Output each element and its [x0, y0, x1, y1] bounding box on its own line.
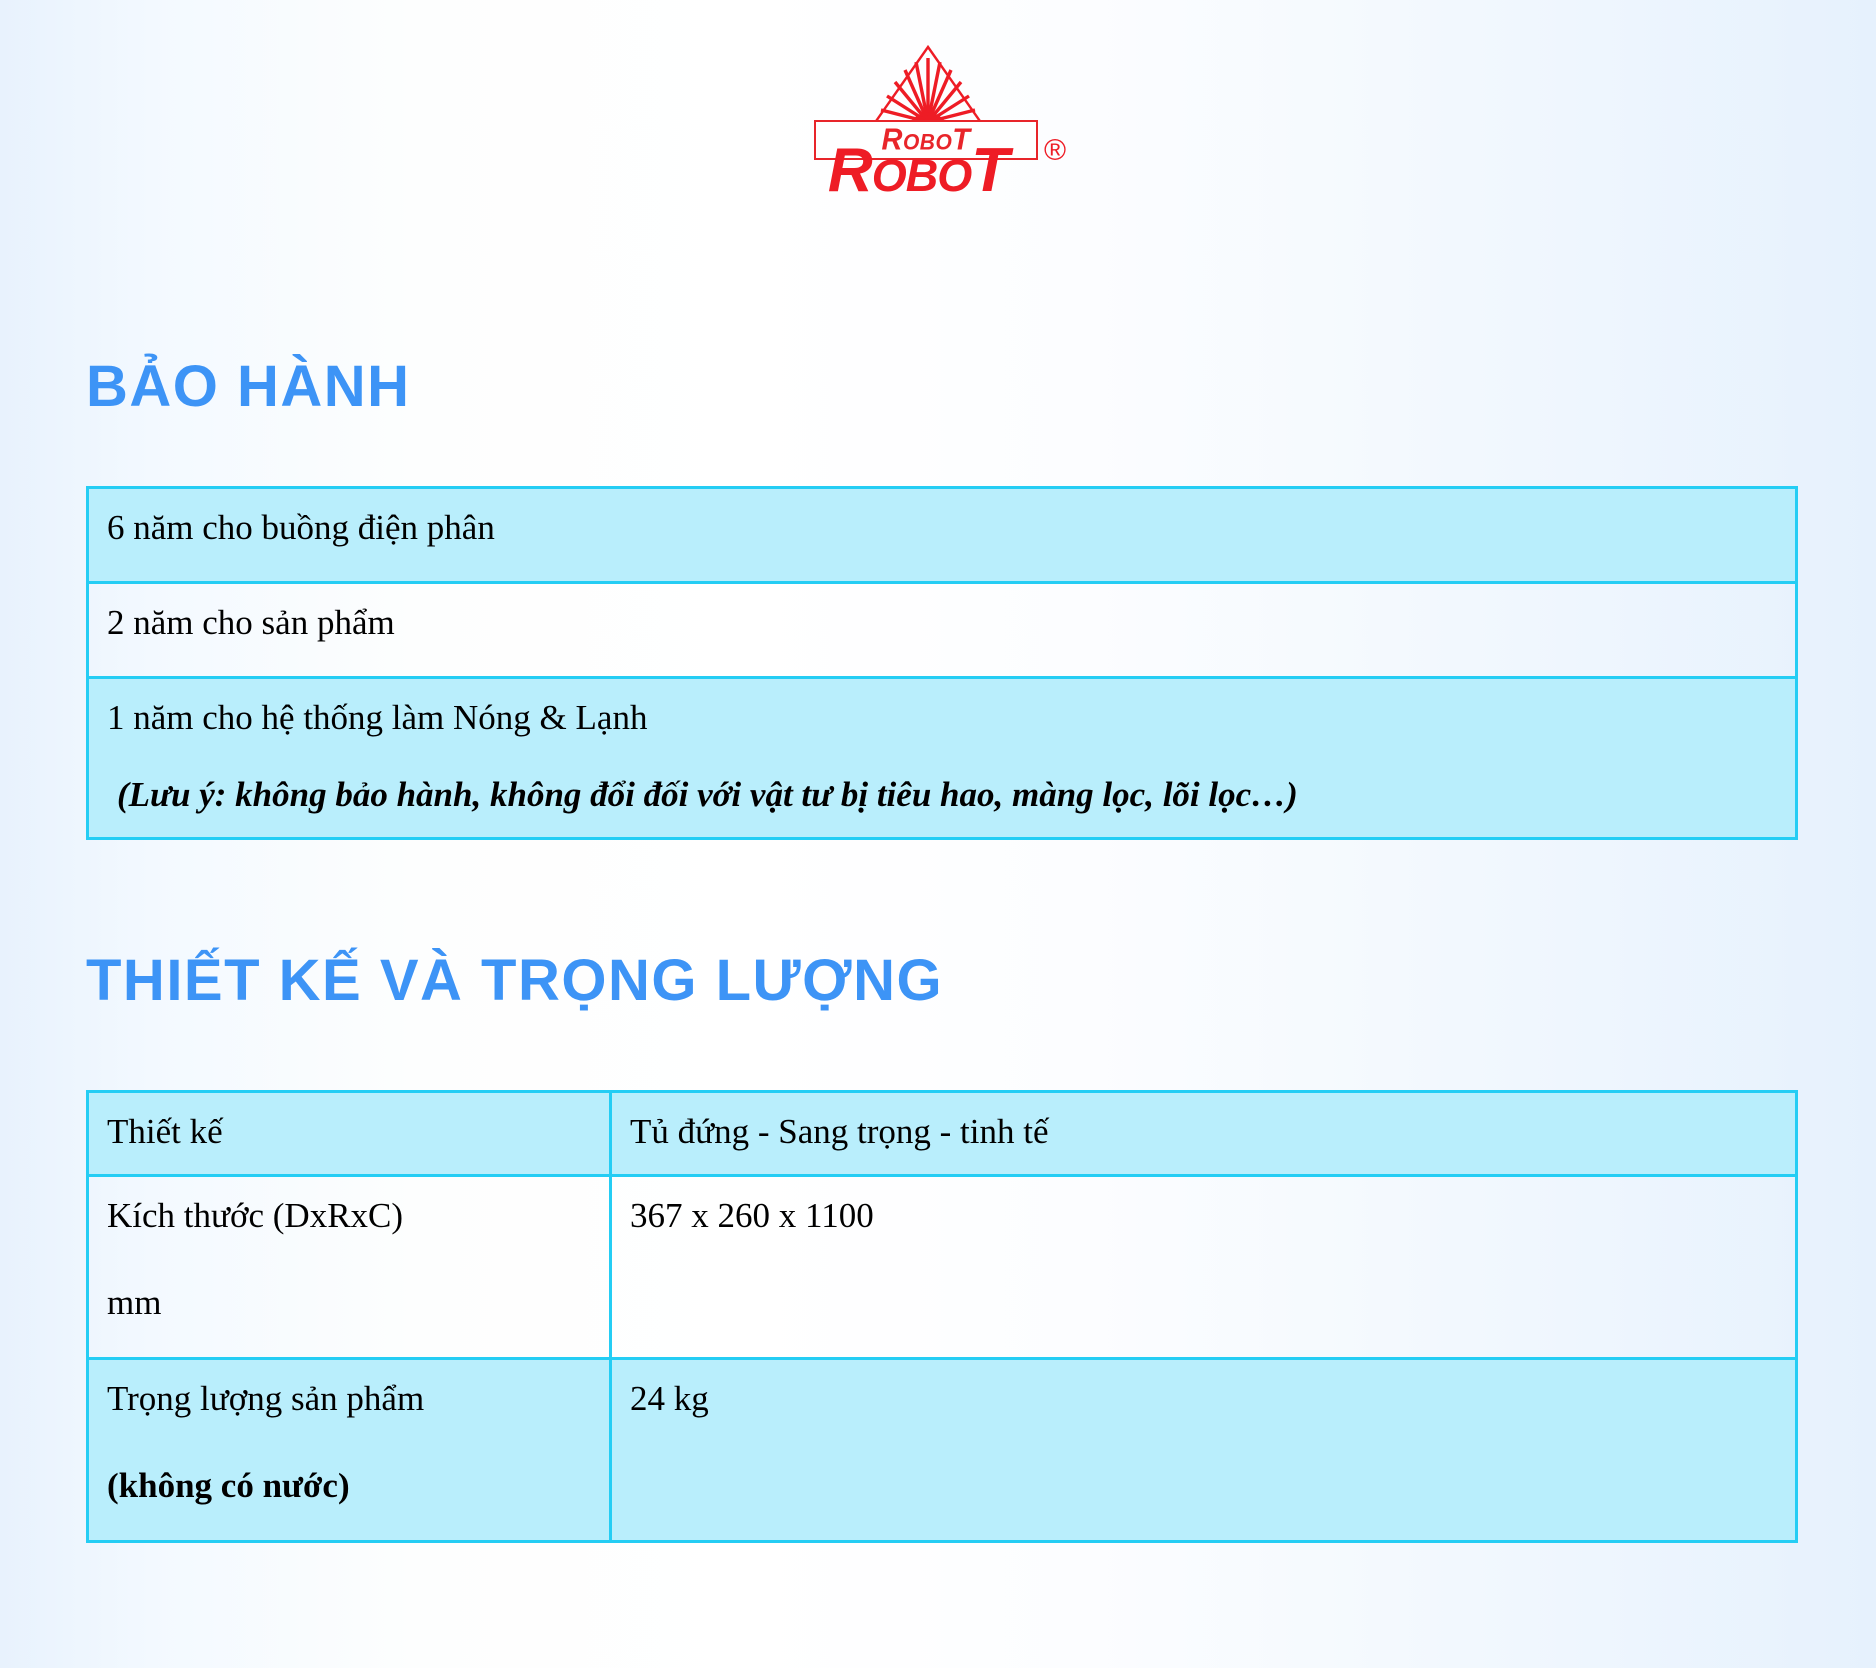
design-label-cell: Thiết kế	[88, 1092, 611, 1176]
warranty-section-title: BẢO HÀNH	[86, 358, 411, 416]
warranty-text: 2 năm cho sản phẩm	[107, 603, 395, 642]
table-row: 1 năm cho hệ thống làm Nóng & Lạnh (Lưu …	[88, 678, 1797, 839]
design-value: 367 x 260 x 1100	[630, 1196, 874, 1235]
warranty-cell: 2 năm cho sản phẩm	[88, 583, 1797, 678]
design-label-unit: mm	[107, 1278, 591, 1329]
warranty-text: 1 năm cho hệ thống làm Nóng & Lạnh	[107, 698, 647, 737]
design-label-cell: Trọng lượng sản phẩm (không có nước)	[88, 1358, 611, 1541]
design-value-cell: Tủ đứng - Sang trọng - tinh tế	[611, 1092, 1797, 1176]
warranty-table: 6 năm cho buồng điện phân 2 năm cho sản …	[86, 486, 1798, 840]
table-row: Thiết kế Tủ đứng - Sang trọng - tinh tế	[88, 1092, 1797, 1176]
product-spec-page: ROBOT ROBOT ® BẢO HÀNH 6 năm cho buồng đ…	[0, 0, 1876, 1668]
brand-logo: ROBOT ROBOT ®	[0, 44, 1876, 184]
design-section-title: THIẾT KẾ VÀ TRỌNG LƯỢNG	[86, 952, 943, 1010]
design-value: Tủ đứng - Sang trọng - tinh tế	[630, 1112, 1049, 1151]
table-row: 6 năm cho buồng điện phân	[88, 488, 1797, 583]
warranty-note: (Lưu ý: không bảo hành, không đổi đối vớ…	[117, 770, 1777, 821]
design-label: Trọng lượng sản phẩm	[107, 1379, 424, 1418]
table-row: Kích thước (DxRxC) mm 367 x 260 x 1100	[88, 1175, 1797, 1358]
table-row: Trọng lượng sản phẩm (không có nước) 24 …	[88, 1358, 1797, 1541]
design-value: 24 kg	[630, 1379, 709, 1418]
warranty-cell: 1 năm cho hệ thống làm Nóng & Lạnh (Lưu …	[88, 678, 1797, 839]
design-value-cell: 24 kg	[611, 1358, 1797, 1541]
table-row: 2 năm cho sản phẩm	[88, 583, 1797, 678]
logo-wordmark: ROBOT	[768, 140, 1068, 202]
design-label-qualifier: (không có nước)	[107, 1461, 591, 1512]
warranty-cell: 6 năm cho buồng điện phân	[88, 488, 1797, 583]
logo-group: ROBOT ROBOT ®	[768, 44, 1108, 184]
design-label-cell: Kích thước (DxRxC) mm	[88, 1175, 611, 1358]
design-value-cell: 367 x 260 x 1100	[611, 1175, 1797, 1358]
design-label: Kích thước (DxRxC)	[107, 1196, 403, 1235]
warranty-text: 6 năm cho buồng điện phân	[107, 508, 495, 547]
design-weight-table: Thiết kế Tủ đứng - Sang trọng - tinh tế …	[86, 1090, 1798, 1543]
registered-trademark-icon: ®	[1044, 136, 1066, 166]
design-label: Thiết kế	[107, 1112, 223, 1151]
